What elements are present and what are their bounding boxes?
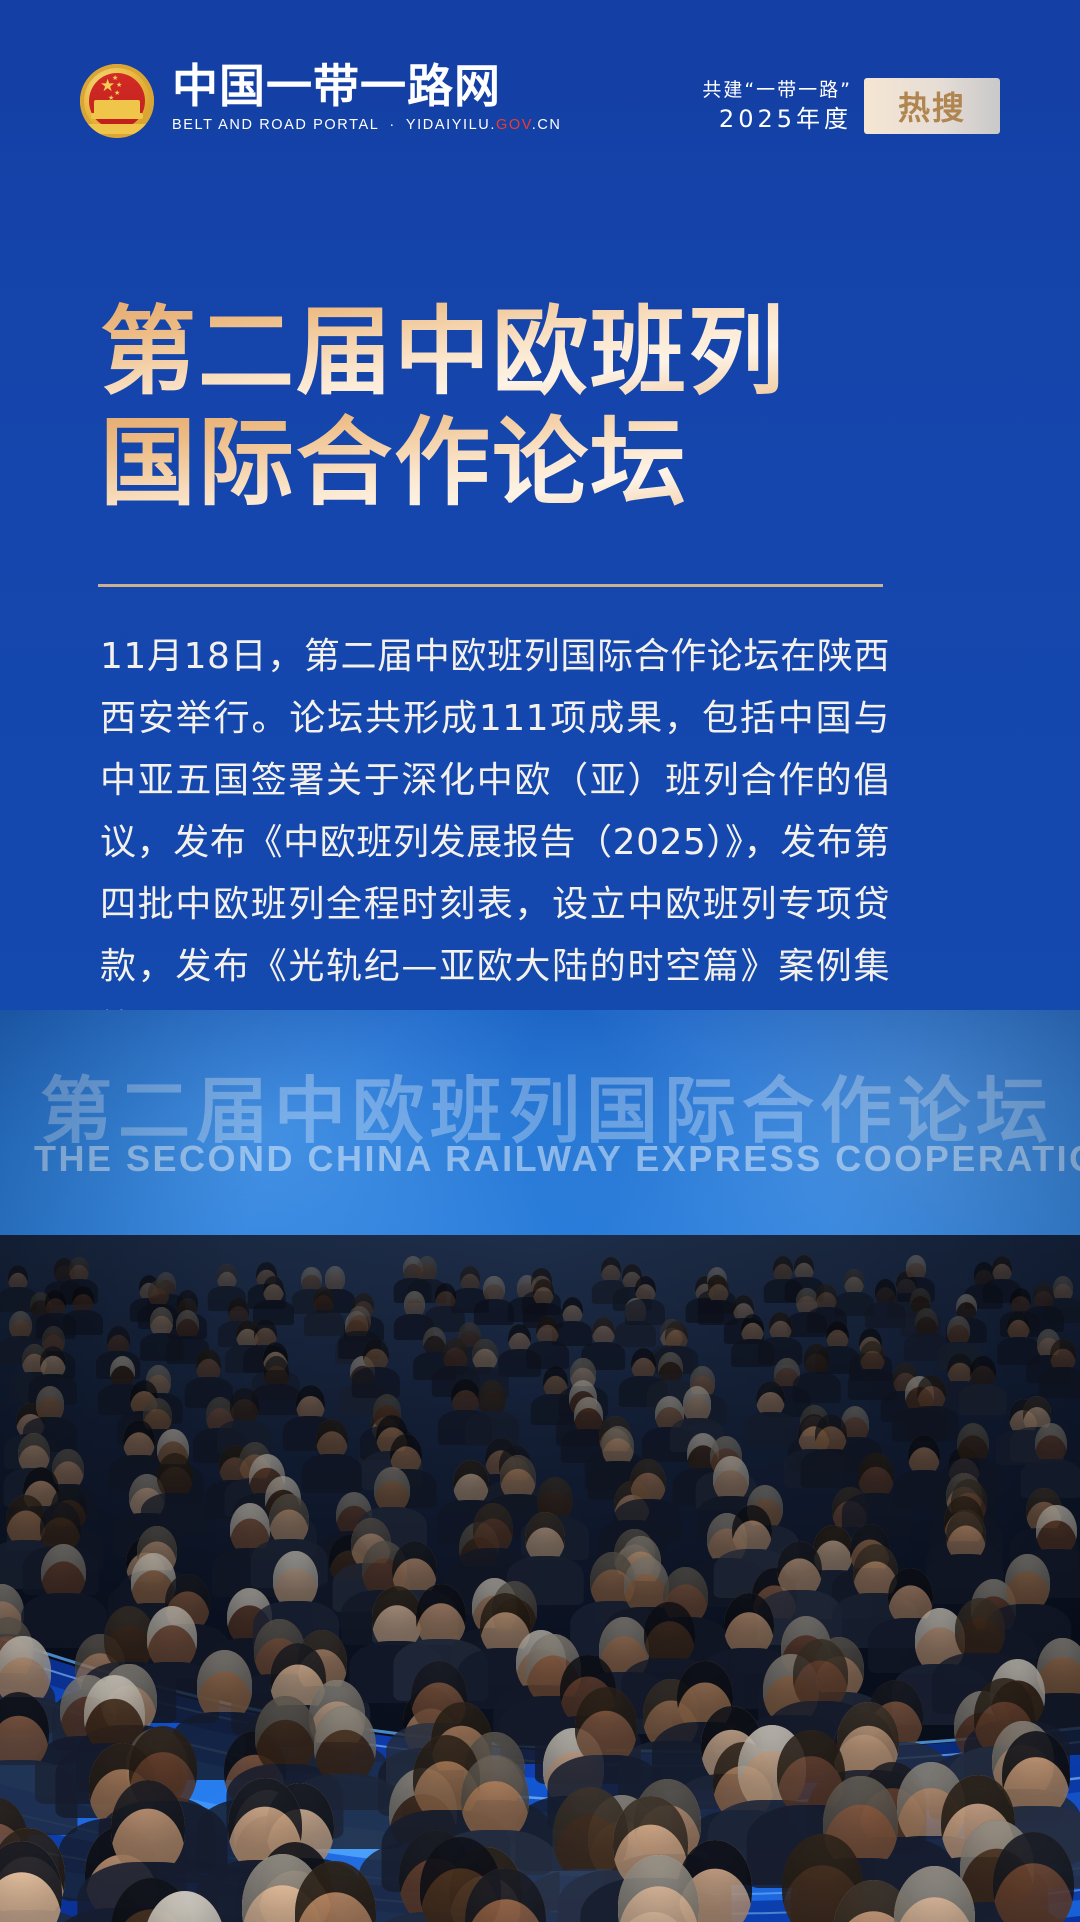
- audience-person: [644, 1602, 694, 1667]
- audience-person: [363, 1339, 389, 1372]
- audience-person: [417, 1256, 437, 1282]
- audience-person: [794, 1255, 814, 1281]
- audience-person: [176, 1310, 199, 1340]
- audience-person: [860, 1341, 886, 1374]
- audience-person: [1007, 1311, 1030, 1341]
- audience-person: [230, 1388, 259, 1425]
- audience-person: [263, 1276, 284, 1303]
- audience-person: [473, 1503, 513, 1555]
- audience-person: [110, 1356, 136, 1389]
- title-divider: [98, 584, 883, 587]
- audience-person: [269, 1494, 309, 1546]
- audience-person: [804, 1344, 830, 1377]
- audience-person: [148, 1280, 169, 1307]
- title-line-2: 国际合作论坛: [100, 407, 980, 518]
- audience-person: [500, 1455, 536, 1501]
- page-title: 第二届中欧班列 国际合作论坛: [100, 296, 980, 519]
- audience-person: [917, 1375, 946, 1412]
- audience-person: [460, 1266, 480, 1292]
- audience-person: [404, 1291, 425, 1318]
- stage-banner-title-en: THE SECOND CHINA RAILWAY EXPRESS COOPERA…: [34, 1138, 1080, 1180]
- audience-person: [40, 1346, 66, 1379]
- audience-person: [631, 1348, 657, 1381]
- audience-person: [374, 1467, 410, 1513]
- audience-person: [461, 1755, 529, 1842]
- audience-person: [769, 1312, 792, 1342]
- china-national-emblem-icon: ★ ★ ★ ★ ★: [80, 64, 154, 138]
- audience-crowd: [0, 1235, 1080, 1922]
- audience-person: [1036, 1505, 1076, 1557]
- audience-person: [472, 1339, 498, 1372]
- brand-domain-gov: GOV: [496, 117, 532, 133]
- audience-person: [816, 1284, 837, 1311]
- audience-person: [313, 1287, 334, 1314]
- audience-person: [658, 1352, 684, 1385]
- audience-person: [296, 1385, 325, 1422]
- header: ★ ★ ★ ★ ★ 中国一带一路网 BELT AND ROAD PORTAL·Y…: [0, 0, 1080, 180]
- audience-person: [773, 1256, 793, 1282]
- audience-person: [9, 1311, 32, 1341]
- audience-person: [525, 1512, 565, 1564]
- audience-person: [562, 1297, 583, 1324]
- brand-separator: ·: [389, 117, 395, 133]
- audience-person: [453, 1460, 489, 1506]
- summary-paragraph: 11月18日，第二届中欧班列国际合作论坛在陕西西安举行。论坛共形成111项成果，…: [100, 626, 890, 1060]
- audience-person: [575, 1687, 637, 1766]
- audience-person: [858, 1453, 894, 1499]
- audience-person: [732, 1505, 772, 1557]
- audience-person: [741, 1314, 764, 1344]
- audience-person: [957, 1423, 989, 1464]
- audience-person: [533, 1279, 554, 1306]
- audience-person: [255, 1696, 317, 1775]
- audience-person: [72, 1286, 93, 1313]
- audience-person: [630, 1459, 666, 1505]
- audience-person: [665, 1321, 688, 1351]
- audience-person: [1005, 1554, 1050, 1612]
- audience-person: [844, 1269, 864, 1295]
- audience-person: [483, 1276, 504, 1303]
- badge-text-block: 共建“一带一路” 2025年度: [702, 78, 864, 134]
- audience-person: [955, 1598, 1005, 1663]
- audience-person: [793, 1639, 849, 1711]
- title-line-1: 第二届中欧班列: [100, 296, 980, 407]
- audience-person: [435, 1283, 456, 1310]
- audience-person: [314, 1706, 376, 1785]
- campaign-badge[interactable]: 共建“一带一路” 2025年度 热搜: [702, 78, 1000, 134]
- audience-person: [970, 1356, 996, 1389]
- audience-person: [683, 1386, 712, 1423]
- audience-person: [601, 1257, 621, 1283]
- audience-person: [947, 1316, 970, 1346]
- audience-person: [150, 1307, 173, 1337]
- audience-person: [1050, 1339, 1076, 1372]
- audience-person: [372, 1586, 422, 1651]
- brand-name-cn: 中国一带一路网: [172, 62, 561, 110]
- audience-person: [915, 1308, 938, 1338]
- audience-person: [41, 1544, 86, 1602]
- brand-name-en: BELT AND ROAD PORTAL·YIDAIYILU.GOV.CN: [172, 117, 561, 133]
- audience-person: [777, 1541, 822, 1599]
- audience-person: [947, 1353, 973, 1386]
- audience-person: [416, 1584, 466, 1649]
- audience-person: [111, 1780, 185, 1875]
- audience-person: [1035, 1423, 1067, 1464]
- audience-person: [264, 1356, 290, 1389]
- audience-person: [574, 1397, 603, 1434]
- audience-person: [123, 1420, 155, 1461]
- audience-person: [443, 1338, 469, 1371]
- audience-person: [8, 1265, 28, 1291]
- audience-person: [908, 1435, 940, 1476]
- audience-person: [451, 1379, 480, 1416]
- audience-person: [756, 1381, 785, 1418]
- audience-person: [197, 1650, 253, 1722]
- audience-person: [826, 1321, 849, 1351]
- badge-line-2: 2025年度: [702, 104, 852, 134]
- audience-person: [724, 1593, 774, 1658]
- conference-photo: 第二届中欧班列国际合作论坛 THE SECOND CHINA RAILWAY E…: [0, 1010, 1080, 1922]
- audience-person: [875, 1279, 896, 1306]
- audience-person: [348, 1306, 371, 1336]
- audience-person: [147, 1606, 197, 1671]
- site-brand[interactable]: ★ ★ ★ ★ ★ 中国一带一路网 BELT AND ROAD PORTAL·Y…: [80, 62, 561, 138]
- audience-person: [992, 1256, 1012, 1282]
- badge-line-1: 共建“一带一路”: [702, 78, 852, 104]
- audience-person: [36, 1386, 65, 1423]
- audience-person: [217, 1264, 237, 1290]
- audience-person: [157, 1453, 193, 1499]
- audience-person: [273, 1551, 318, 1609]
- audience-person: [713, 1456, 749, 1502]
- audience-person: [316, 1419, 348, 1460]
- audience-person: [946, 1510, 986, 1562]
- audience-person: [536, 1316, 559, 1346]
- audience-person: [708, 1276, 729, 1303]
- brand-domain-part2: .CN: [532, 117, 562, 133]
- audience-person: [815, 1414, 847, 1455]
- audience-person: [592, 1317, 615, 1347]
- poster-root: ★ ★ ★ ★ ★ 中国一带一路网 BELT AND ROAD PORTAL·Y…: [0, 0, 1080, 1922]
- audience-person: [196, 1349, 222, 1382]
- hot-search-label: 热搜: [898, 83, 966, 129]
- brand-en-main: BELT AND ROAD PORTAL: [172, 117, 379, 133]
- audience-person: [1053, 1276, 1073, 1302]
- audience-person: [45, 1290, 66, 1317]
- audience-person: [107, 1326, 130, 1356]
- hot-search-chip[interactable]: 热搜: [864, 78, 1000, 134]
- audience-person: [69, 1257, 89, 1283]
- audience-person: [906, 1255, 926, 1281]
- audience-person: [635, 1276, 656, 1303]
- audience-person: [1033, 1283, 1054, 1310]
- brand-domain-part1: YIDAIYILU.: [406, 117, 496, 133]
- audience-person: [478, 1380, 507, 1417]
- audience-person: [602, 1426, 634, 1467]
